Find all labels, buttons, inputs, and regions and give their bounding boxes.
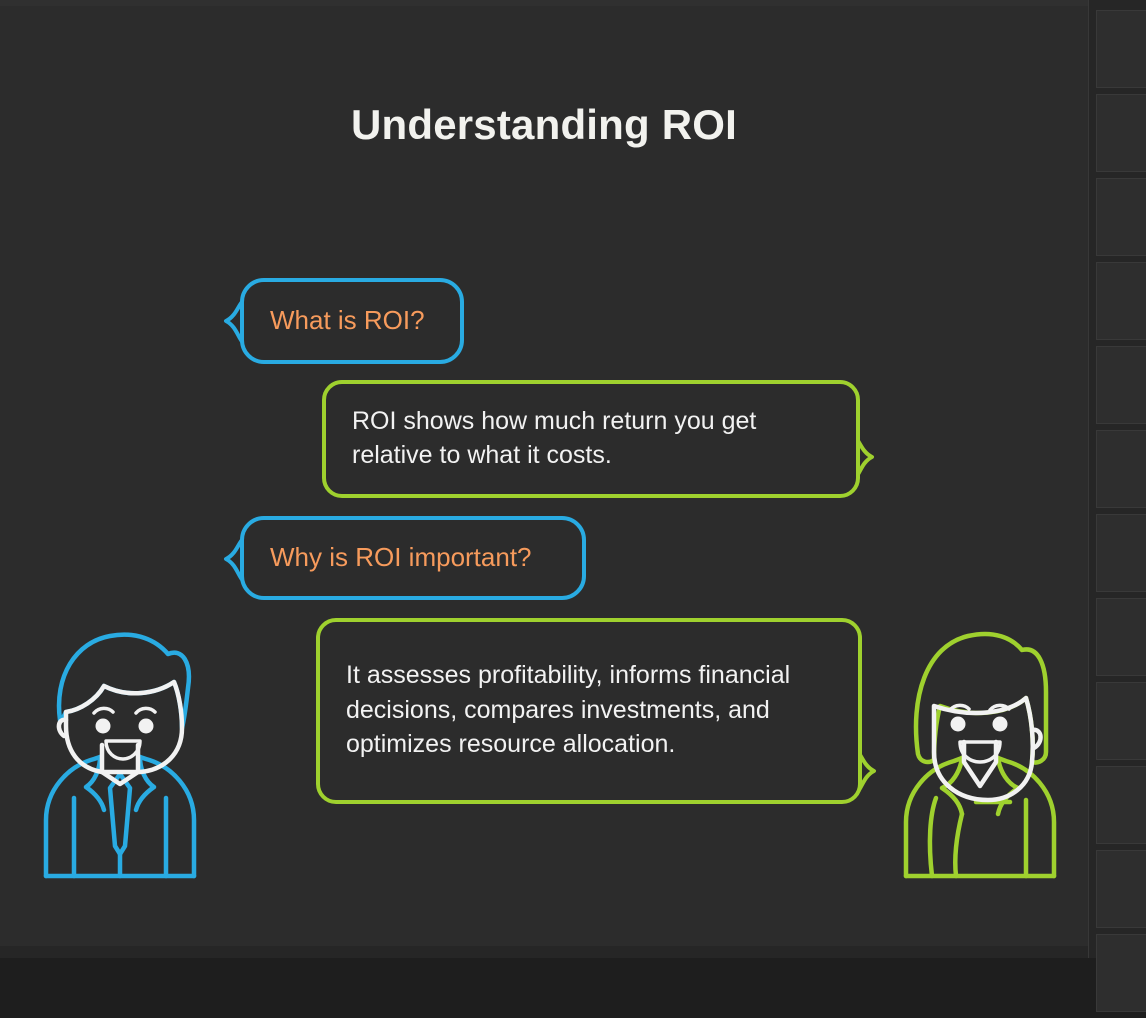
speech-bubble-question-1[interactable]: What is ROI? (240, 278, 464, 364)
page-title: Understanding ROI (0, 102, 1088, 148)
canvas-bottom-strip (0, 946, 1088, 958)
speech-bubble-answer-2[interactable]: It assesses profitability, informs finan… (316, 618, 862, 804)
eye-right-icon (139, 719, 154, 734)
slide-thumbnail[interactable] (1096, 262, 1146, 340)
slide-thumbnail[interactable] (1096, 178, 1146, 256)
slide-thumbnail-list[interactable] (1096, 10, 1146, 1018)
male-presenter-avatar (36, 602, 204, 880)
speech-bubble-text: Why is ROI important? (270, 542, 556, 573)
speech-bubble-text: What is ROI? (270, 305, 434, 336)
slide-thumbnail[interactable] (1096, 934, 1146, 1012)
speech-bubble-question-2[interactable]: Why is ROI important? (240, 516, 586, 600)
presentation-window: Understanding ROI What is ROI? ROI shows… (0, 0, 1146, 958)
slide-canvas[interactable]: Understanding ROI What is ROI? ROI shows… (0, 6, 1088, 946)
slide-thumbnail[interactable] (1096, 10, 1146, 88)
speech-bubble-text: ROI shows how much return you get relati… (352, 404, 830, 473)
slide-thumbnail[interactable] (1096, 682, 1146, 760)
speech-bubble-text: It assesses profitability, informs finan… (346, 658, 832, 762)
slide-thumbnail[interactable] (1096, 766, 1146, 844)
female-presenter-avatar (896, 602, 1064, 880)
speech-bubble-answer-1[interactable]: ROI shows how much return you get relati… (322, 380, 860, 498)
eye-right-icon (993, 717, 1008, 732)
eye-left-icon (951, 717, 966, 732)
slide-thumbnail[interactable] (1096, 94, 1146, 172)
slide-thumbnail[interactable] (1096, 598, 1146, 676)
slide-thumbnail[interactable] (1096, 430, 1146, 508)
slide-thumbnail[interactable] (1096, 514, 1146, 592)
slide-thumbnail[interactable] (1096, 346, 1146, 424)
slide-thumbnail-rail[interactable] (1088, 0, 1146, 958)
eye-left-icon (96, 719, 111, 734)
slide-thumbnail[interactable] (1096, 850, 1146, 928)
